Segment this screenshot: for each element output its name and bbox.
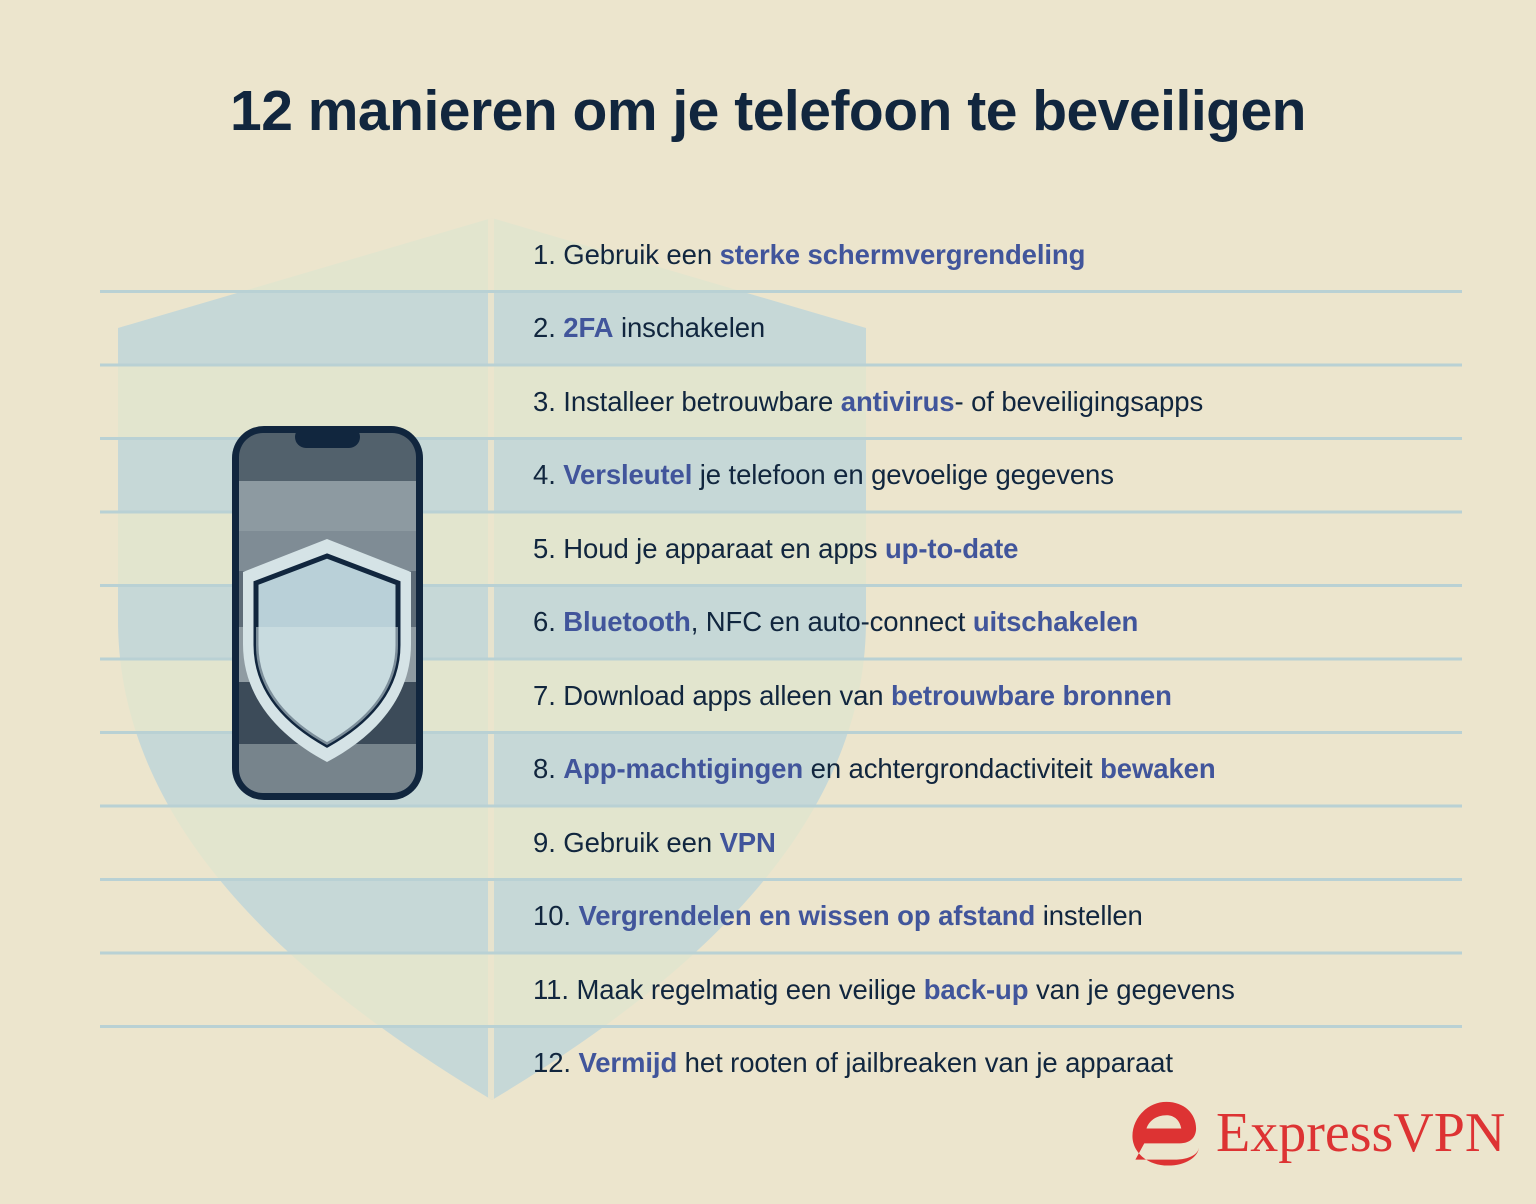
list-item-pre: Gebruik een bbox=[563, 827, 719, 858]
list-item: 8. App-machtigingen en achtergrondactivi… bbox=[0, 733, 1536, 807]
list-item-number: 4. bbox=[533, 459, 556, 490]
list-item-number: 8. bbox=[533, 753, 556, 784]
expressvpn-logo: ExpressVPN bbox=[1128, 1094, 1468, 1172]
list-item-highlight-2: uitschakelen bbox=[973, 606, 1138, 637]
list-item: 3. Installeer betrouwbare antivirus- of … bbox=[0, 365, 1536, 439]
list-item-highlight-2: bewaken bbox=[1100, 753, 1215, 784]
list-item-post: , NFC en auto-connect bbox=[691, 606, 973, 637]
list-item: 2. 2FA inschakelen bbox=[0, 292, 1536, 366]
list-item-highlight: sterke schermvergrendeling bbox=[720, 239, 1086, 270]
list-item-text-10: 10. Vergrendelen en wissen op afstand in… bbox=[533, 900, 1143, 932]
list-item-number: 2. bbox=[533, 312, 556, 343]
list-item-highlight: 2FA bbox=[563, 312, 613, 343]
list-item-highlight: betrouwbare bronnen bbox=[891, 680, 1172, 711]
list-item-pre: Download apps alleen van bbox=[563, 680, 891, 711]
list-item-number: 10. bbox=[533, 900, 571, 931]
tips-list: 1. Gebruik een sterke schermvergrendelin… bbox=[0, 218, 1536, 1100]
list-item-highlight: Vergrendelen en wissen op afstand bbox=[578, 900, 1035, 931]
list-item-number: 3. bbox=[533, 386, 556, 417]
list-item: 10. Vergrendelen en wissen op afstand in… bbox=[0, 880, 1536, 954]
list-item-highlight: up-to-date bbox=[885, 533, 1018, 564]
list-item-highlight: Bluetooth bbox=[563, 606, 690, 637]
list-item-pre: Houd je apparaat en apps bbox=[563, 533, 885, 564]
list-item-highlight: back-up bbox=[924, 974, 1029, 1005]
list-item-text-7: 7. Download apps alleen van betrouwbare … bbox=[533, 680, 1172, 712]
list-item-post: inschakelen bbox=[613, 312, 765, 343]
list-item: 7. Download apps alleen van betrouwbare … bbox=[0, 659, 1536, 733]
list-item-highlight: VPN bbox=[720, 827, 776, 858]
list-item-text-11: 11. Maak regelmatig een veilige back-up … bbox=[533, 974, 1235, 1006]
list-item-text-8: 8. App-machtigingen en achtergrondactivi… bbox=[533, 753, 1216, 785]
list-item-post: en achtergrondactiviteit bbox=[803, 753, 1100, 784]
expressvpn-wordmark: ExpressVPN bbox=[1216, 1105, 1505, 1161]
list-item: 12. Vermijd het rooten of jailbreaken va… bbox=[0, 1027, 1536, 1101]
list-item-text-5: 5. Houd je apparaat en apps up-to-date bbox=[533, 533, 1018, 565]
list-item-post: het rooten of jailbreaken van je apparaa… bbox=[677, 1047, 1173, 1078]
expressvpn-e-mark bbox=[1128, 1096, 1202, 1170]
list-item: 6. Bluetooth, NFC en auto-connect uitsch… bbox=[0, 586, 1536, 660]
list-item-highlight: Versleutel bbox=[563, 459, 692, 490]
list-item-highlight: Vermijd bbox=[578, 1047, 677, 1078]
list-item-pre: Maak regelmatig een veilige bbox=[576, 974, 923, 1005]
list-item: 4. Versleutel je telefoon en gevoelige g… bbox=[0, 439, 1536, 513]
list-item-number: 7. bbox=[533, 680, 556, 711]
list-item-number: 11. bbox=[533, 974, 569, 1005]
list-item-text-2: 2. 2FA inschakelen bbox=[533, 312, 765, 344]
list-item-highlight: antivirus bbox=[841, 386, 955, 417]
list-item-number: 5. bbox=[533, 533, 556, 564]
list-item-text-1: 1. Gebruik een sterke schermvergrendelin… bbox=[533, 239, 1085, 271]
list-item-post: van je gegevens bbox=[1028, 974, 1234, 1005]
list-item: 9. Gebruik een VPN bbox=[0, 806, 1536, 880]
list-item-pre: Installeer betrouwbare bbox=[563, 386, 840, 417]
list-item-post: - of beveiligingsapps bbox=[954, 386, 1203, 417]
list-item-number: 1. bbox=[533, 239, 556, 270]
list-item-number: 6. bbox=[533, 606, 556, 637]
list-item: 11. Maak regelmatig een veilige back-up … bbox=[0, 953, 1536, 1027]
list-item-number: 12. bbox=[533, 1047, 571, 1078]
list-item: 5. Houd je apparaat en apps up-to-date bbox=[0, 512, 1536, 586]
list-item-text-3: 3. Installeer betrouwbare antivirus- of … bbox=[533, 386, 1203, 418]
list-item-text-9: 9. Gebruik een VPN bbox=[533, 827, 776, 859]
list-item: 1. Gebruik een sterke schermvergrendelin… bbox=[0, 218, 1536, 292]
list-item-post: instellen bbox=[1035, 900, 1143, 931]
list-item-text-6: 6. Bluetooth, NFC en auto-connect uitsch… bbox=[533, 606, 1138, 638]
list-item-text-12: 12. Vermijd het rooten of jailbreaken va… bbox=[533, 1047, 1173, 1079]
list-item-post: je telefoon en gevoelige gegevens bbox=[692, 459, 1114, 490]
list-item-text-4: 4. Versleutel je telefoon en gevoelige g… bbox=[533, 459, 1114, 491]
list-item-number: 9. bbox=[533, 827, 556, 858]
list-item-pre: Gebruik een bbox=[563, 239, 719, 270]
list-item-highlight: App-machtigingen bbox=[563, 753, 803, 784]
